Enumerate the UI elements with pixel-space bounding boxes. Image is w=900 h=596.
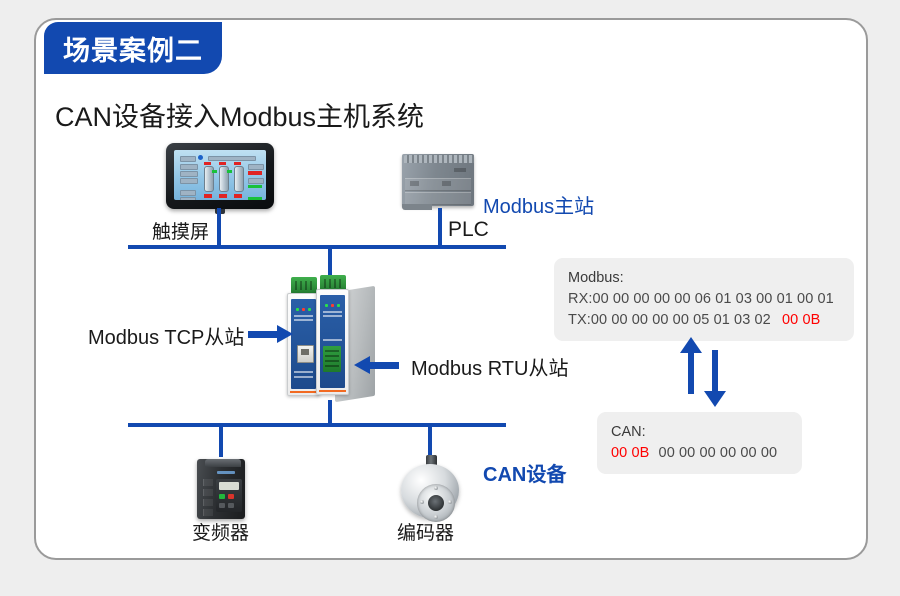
plc-module-icon (402, 147, 478, 209)
gateway-faceplate-rtu (320, 295, 345, 388)
gateway-module-rtu (316, 289, 349, 395)
arrow-up-icon (688, 352, 694, 394)
arrow-to-tcp-slave (248, 331, 278, 338)
plc-terminal-strip (404, 155, 474, 163)
hmi-touch-panel-icon (166, 143, 274, 209)
modbus-frame-panel: Modbus: RX:00 00 00 00 00 06 01 03 00 01… (554, 258, 854, 341)
label-can-device: CAN设备 (483, 458, 566, 487)
din-rail-gateway-icon (283, 275, 379, 405)
can-frame-rest: 00 00 00 00 00 00 (659, 445, 778, 461)
label-modbus-rtu-slave: Modbus RTU从站 (411, 352, 568, 381)
can-frame: 00 0B 00 00 00 00 00 00 (611, 443, 788, 464)
top-bus-to-gateway-line (328, 245, 332, 279)
modbus-tx-prefix: TX:00 00 00 00 00 05 01 03 02 (568, 312, 771, 328)
vfd-keypad (216, 479, 242, 512)
scenario-badge: 场景案例二 (44, 22, 222, 74)
label-vfd: 变频器 (192, 518, 249, 545)
can-panel-header: CAN: (611, 422, 788, 443)
plc-drop-line (438, 208, 442, 248)
vfd-drop-line (219, 423, 223, 457)
encoder-flange (417, 484, 455, 522)
rotary-encoder-icon (399, 455, 465, 521)
vfd-top-vent (205, 459, 241, 467)
label-modbus-master: Modbus主站 (483, 190, 594, 219)
gateway-green-connector-left (291, 277, 317, 294)
modbus-rx-frame: RX:00 00 00 00 00 06 01 03 00 01 00 01 (568, 289, 840, 310)
gateway-rj45-port (297, 345, 314, 363)
modbus-tx-frame: TX:00 00 00 00 00 05 01 03 02 00 0B (568, 310, 840, 331)
label-encoder: 编码器 (397, 518, 454, 545)
can-frame-panel: CAN: 00 0B 00 00 00 00 00 00 (597, 412, 802, 474)
modbus-top-bus-line (128, 245, 506, 249)
arrow-down-icon (712, 350, 718, 392)
arrow-to-rtu-slave (369, 362, 399, 369)
modbus-tx-highlight: 00 0B (782, 312, 820, 328)
diagram-canvas: 场景案例二 CAN设备接入Modbus主机系统 (0, 0, 900, 596)
page-title: CAN设备接入Modbus主机系统 (55, 95, 424, 134)
plc-body (402, 154, 474, 206)
hmi-screen (174, 150, 266, 200)
hmi-drop-line (217, 208, 221, 248)
label-modbus-tcp-slave: Modbus TCP从站 (88, 321, 244, 350)
gateway-screw-terminal (323, 346, 341, 372)
can-frame-highlight: 00 0B (611, 445, 649, 461)
vfd-logo (217, 471, 235, 474)
modbus-panel-header: Modbus: (568, 268, 840, 289)
encoder-bore (428, 495, 444, 511)
vfd-drive-icon (193, 455, 249, 521)
can-bus-line (128, 423, 506, 427)
encoder-housing (401, 464, 459, 518)
label-hmi: 触摸屏 (152, 217, 209, 244)
vfd-display (219, 482, 239, 490)
vfd-body (197, 459, 245, 519)
plc-foot (402, 204, 432, 210)
gateway-faceplate-tcp (291, 299, 316, 389)
label-plc: PLC (448, 218, 489, 242)
encoder-drop-line (428, 423, 432, 457)
